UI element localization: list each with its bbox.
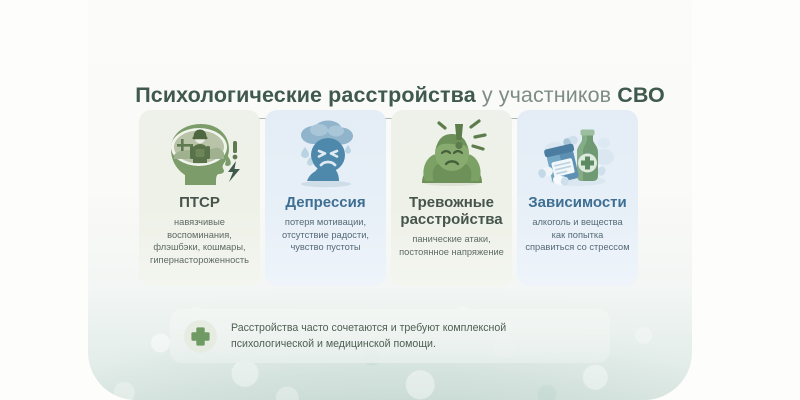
summary-note-text: Расстройства часто сочетаются и требуют … xyxy=(231,320,506,352)
infographic-stage: Психологические расстройства у участнико… xyxy=(0,0,800,400)
sad-face-rain-cloud-icon xyxy=(283,116,369,192)
card-description: потеря мотивации, отсутствие радости, чу… xyxy=(282,216,369,254)
page-title-strong-2: СВО xyxy=(617,83,665,107)
card-description: алкоголь и вещества как попытка справить… xyxy=(525,216,629,254)
page-title-strong: Психологические расстройства xyxy=(135,83,476,107)
card-trevozhnye[interactable]: Тревожные расстройства панические атаки,… xyxy=(391,110,512,286)
card-depressiya[interactable]: Депрессия потеря мотивации, отсутствие р… xyxy=(265,110,386,286)
card-zavisimosti[interactable]: Зависимости алкоголь и вещества как попы… xyxy=(517,110,638,286)
head-soldier-flashback-icon xyxy=(157,116,243,192)
disorder-cards: ПТСР навязчивые воспоминания, флэшбэки, … xyxy=(139,110,649,286)
card-ptsr[interactable]: ПТСР навязчивые воспоминания, флэшбэки, … xyxy=(139,110,260,286)
bottle-pills-icon xyxy=(535,116,621,192)
card-title: ПТСР xyxy=(179,194,220,211)
medical-cross-icon xyxy=(184,320,217,353)
summary-note: Расстройства часто сочетаются и требуют … xyxy=(170,309,610,363)
card-title: Зависимости xyxy=(528,194,627,211)
page-title-light: у участников xyxy=(476,83,618,107)
card-description: панические атаки, постоянное напряжение xyxy=(399,233,504,258)
card-title: Тревожные расстройства xyxy=(400,194,502,228)
page-title: Психологические расстройства у участнико… xyxy=(0,82,800,108)
card-title: Депрессия xyxy=(285,194,365,211)
card-description: навязчивые воспоминания, флэшбэки, кошма… xyxy=(150,216,249,266)
stressed-person-exclamation-icon xyxy=(409,116,495,192)
